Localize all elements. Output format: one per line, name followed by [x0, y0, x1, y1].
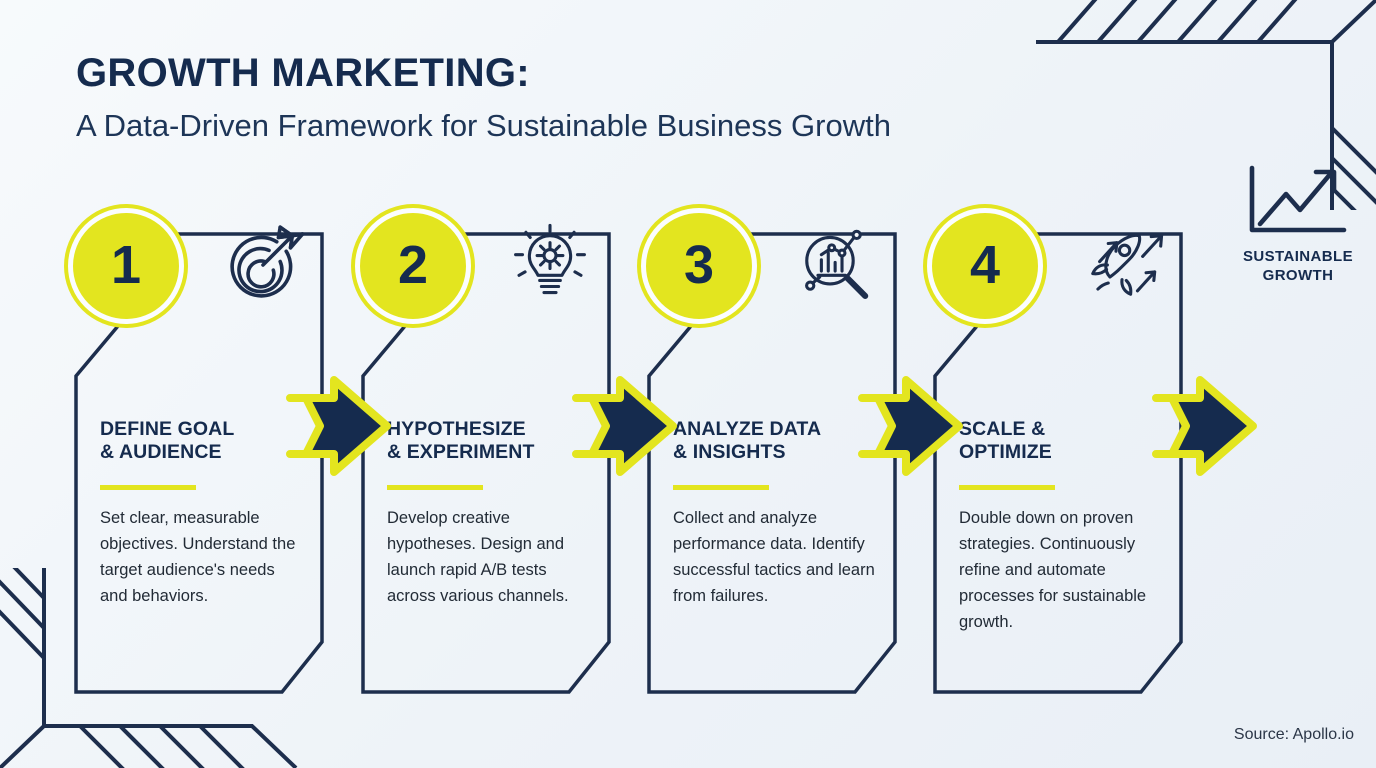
step-divider-2 — [387, 485, 483, 490]
step-number-2: 2 — [398, 238, 428, 292]
outcome-label: SUSTAINABLE GROWTH — [1228, 248, 1368, 286]
magnifier-barchart-icon — [793, 222, 879, 308]
step-card-4[interactable]: 4 SCALE & OPTIMIZE Double down on proven… — [929, 208, 1187, 700]
step-heading-4: SCALE & OPTIMIZE — [959, 418, 1169, 465]
step-number-badge-2: 2 — [355, 208, 471, 324]
steps-row: 1 DEFINE GOAL & AUDIENCE Set clear, meas… — [0, 208, 1376, 708]
step-body-3: Collect and analyze performance data. Id… — [673, 506, 878, 610]
target-arrow-icon — [220, 222, 306, 308]
lightbulb-gear-icon — [507, 222, 593, 308]
header: GROWTH MARKETING: A Data-Driven Framewor… — [76, 52, 891, 144]
step-heading-1: DEFINE GOAL & AUDIENCE — [100, 418, 310, 465]
step-number-badge-4: 4 — [927, 208, 1043, 324]
step-body-1: Set clear, measurable objectives. Unders… — [100, 506, 305, 610]
arrow-step4-to-outcome — [1152, 376, 1257, 476]
infographic-canvas: GROWTH MARKETING: A Data-Driven Framewor… — [0, 0, 1376, 768]
step-number-4: 4 — [970, 238, 1000, 292]
arrow-step1-to-step2 — [286, 376, 391, 476]
step-divider-1 — [100, 485, 196, 490]
upward-trend-chart-icon — [1246, 162, 1350, 240]
source-attribution: Source: Apollo.io — [1234, 726, 1354, 744]
step-divider-3 — [673, 485, 769, 490]
step-body-2: Develop creative hypotheses. Design and … — [387, 506, 592, 610]
rocket-growth-icon — [1079, 222, 1165, 308]
page-subtitle: A Data-Driven Framework for Sustainable … — [76, 108, 891, 144]
step-heading-3: ANALYZE DATA & INSIGHTS — [673, 418, 883, 465]
page-title: GROWTH MARKETING: — [76, 52, 891, 94]
step-divider-4 — [959, 485, 1055, 490]
step-body-4: Double down on proven strategies. Contin… — [959, 506, 1164, 635]
step-number-1: 1 — [111, 238, 141, 292]
outcome-block: SUSTAINABLE GROWTH — [1228, 162, 1368, 286]
arrow-step3-to-step4 — [858, 376, 963, 476]
step-number-badge-1: 1 — [68, 208, 184, 324]
step-number-badge-3: 3 — [641, 208, 757, 324]
step-heading-2: HYPOTHESIZE & EXPERIMENT — [387, 418, 597, 465]
arrow-step2-to-step3 — [572, 376, 677, 476]
step-number-3: 3 — [684, 238, 714, 292]
